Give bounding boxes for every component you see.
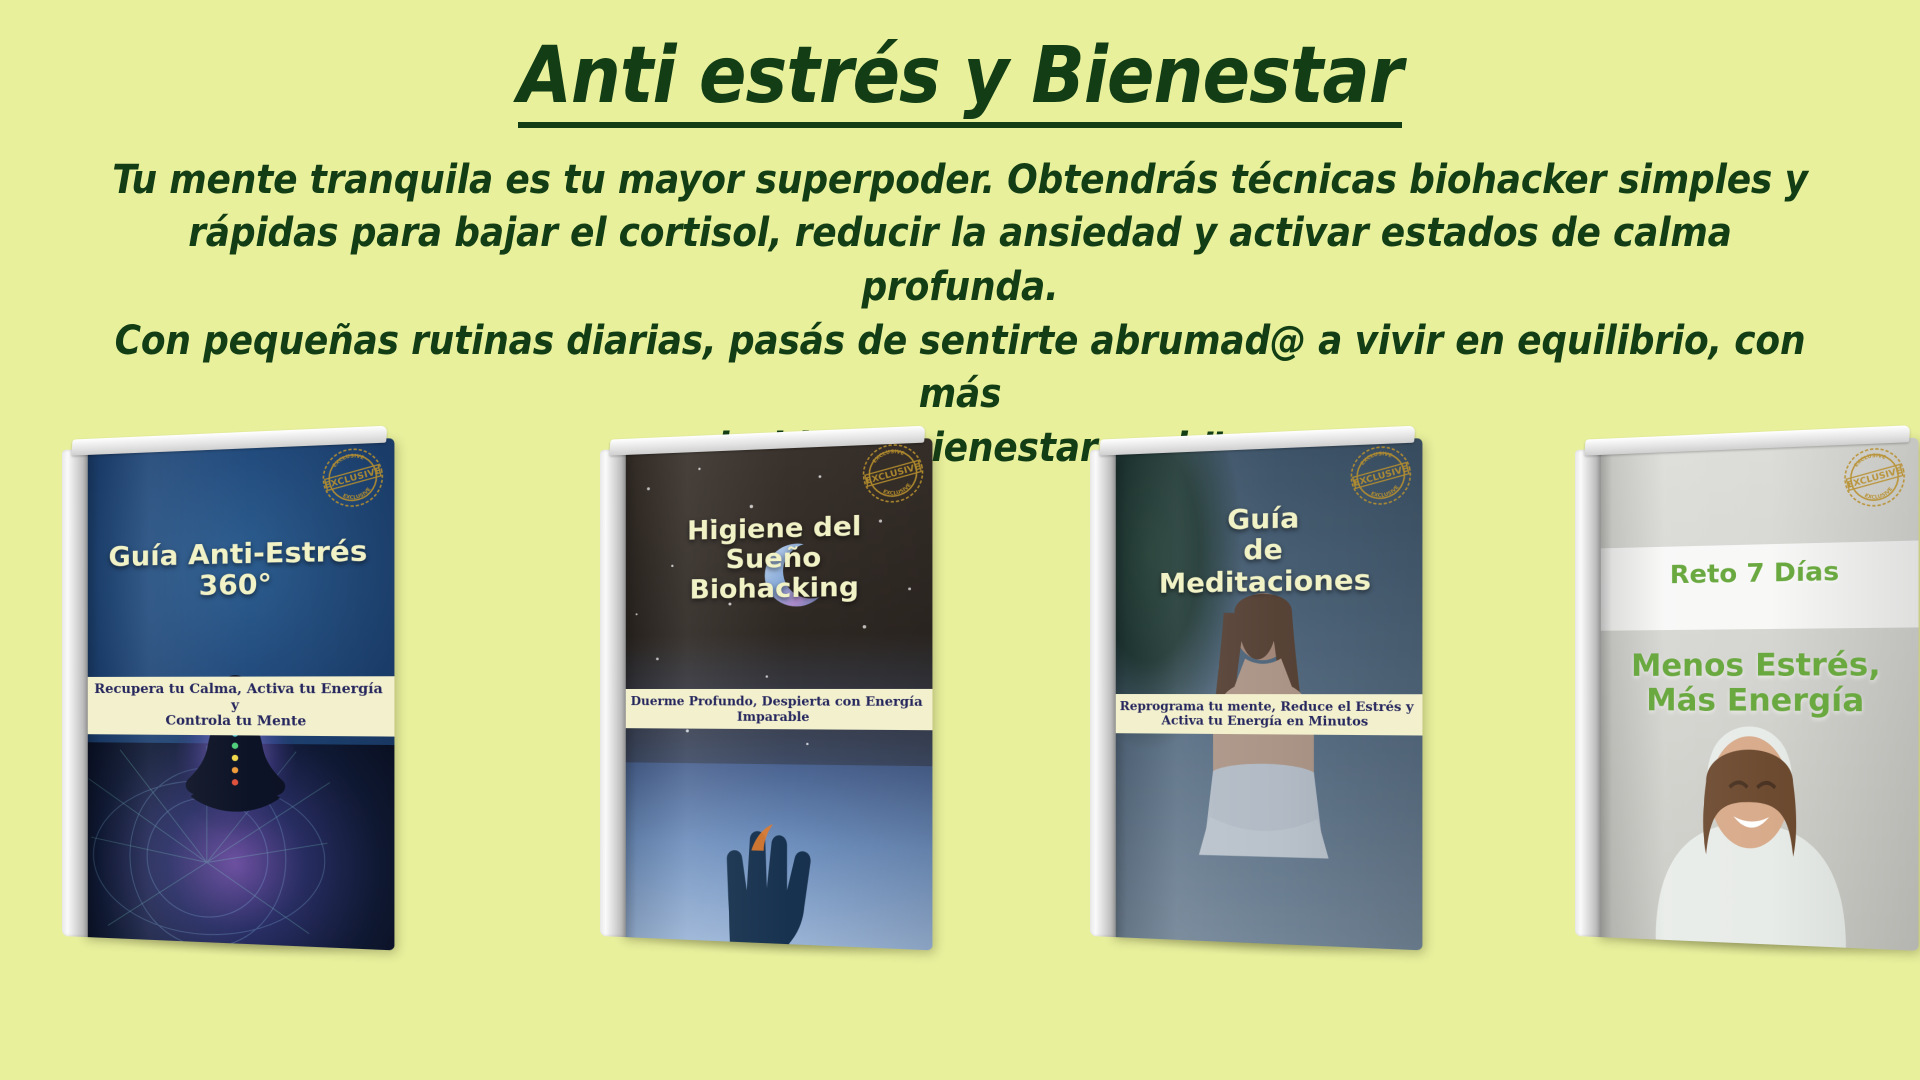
cover-subtitle-line: Reprograma tu mente, Reduce el Estrés y <box>1118 699 1416 715</box>
book-card-guia-de-meditaciones[interactable]: Guía de Meditaciones Reprograma tu mente… <box>1090 440 1410 940</box>
smiling-woman-photo <box>1637 723 1875 949</box>
badge-label: EXCLUSIVE <box>1090 440 1091 441</box>
svg-text:EXCLUSIVE: EXCLUSIVE <box>881 481 915 500</box>
book-gallery: Guía Anti-Estrés 360° Recupera tu Calma,… <box>0 440 1920 1000</box>
badge-label: EXCLUSIVE <box>1575 440 1576 441</box>
cover-title: Menos Estrés, Más Energía <box>1609 648 1905 719</box>
svg-text:EXCLUSIVE: EXCLUSIVE <box>340 486 374 505</box>
cover-subtitle-band: Duerme Profundo, Despierta con Energía I… <box>622 689 933 730</box>
book-spine <box>600 449 626 937</box>
cover-subtitle-band: Recupera tu Calma, Activa tu Energía y C… <box>84 676 395 736</box>
svg-text:EXCLUSIVE: EXCLUSIVE <box>1851 449 1888 469</box>
reaching-hand-icon <box>622 762 933 950</box>
book-spine <box>1090 449 1116 937</box>
svg-text:EXCLUSIVE: EXCLUSIVE <box>1368 483 1402 502</box>
meditation-figure-icon <box>174 603 298 926</box>
cover-title-line: Guía Anti-Estrés <box>96 536 382 574</box>
cover-subtitle-line: Recupera tu Calma, Activa tu Energía y <box>90 682 388 715</box>
cover-subtitle-line: Activa tu Energía en Minutos <box>1118 714 1416 730</box>
cover-title-line: Biohacking <box>634 572 920 607</box>
svg-text:EXCLUSIVE: EXCLUSIVE <box>1358 447 1394 467</box>
book-card-guia-anti-estres-360[interactable]: Guía Anti-Estrés 360° Recupera tu Calma,… <box>62 440 382 940</box>
cover-subtitle-line: Imparable <box>628 709 926 725</box>
cover-title-line: Meditaciones <box>1124 564 1410 600</box>
svg-text:EXCLUSIVE: EXCLUSIVE <box>1862 485 1896 504</box>
cover-title: Guía de Meditaciones <box>1124 500 1410 600</box>
landing-page: Anti estrés y Bienestar Tu mente tranqui… <box>0 0 1920 1080</box>
svg-text:EXCLUSIVE: EXCLUSIVE <box>330 449 366 469</box>
book-cover: Guía de Meditaciones Reprograma tu mente… <box>1112 438 1423 950</box>
svg-text:EXCLUSIVE: EXCLUSIVE <box>870 445 907 465</box>
cover-title: Guía Anti-Estrés 360° <box>96 536 382 604</box>
book-cover: Reto 7 Días Menos Estrés, Más Energía <box>1597 438 1919 951</box>
subtitle-line: rápidas para bajar el cortisol, reducir … <box>110 207 1810 314</box>
book-card-reto-7-dias[interactable]: Reto 7 Días Menos Estrés, Más Energía EX <box>1575 440 1905 940</box>
page-title: Anti estrés y Bienestar <box>0 0 1920 128</box>
subtitle-line: Tu mente tranquila es tu mayor superpode… <box>110 154 1810 208</box>
subtitle-line: Con pequeñas rutinas diarias, pasás de s… <box>110 315 1810 422</box>
cover-title-line: 360° <box>96 568 382 604</box>
cover-subtitle-line: Controla tu Mente <box>90 713 388 731</box>
page-title-text: Anti estrés y Bienestar <box>518 36 1403 128</box>
cover-subtitle-line: Duerme Profundo, Despierta con Energía <box>628 694 926 709</box>
book-cover: Higiene del Sueño Biohacking Duerme Prof… <box>622 438 933 950</box>
book-cover: Guía Anti-Estrés 360° Recupera tu Calma,… <box>84 438 395 950</box>
book-spine <box>62 449 88 937</box>
book-spine <box>1575 449 1601 937</box>
cover-title: Higiene del Sueño Biohacking <box>634 510 920 606</box>
cover-title-line: Menos Estrés, <box>1609 648 1905 684</box>
cover-band-title: Reto 7 Días <box>1609 556 1905 591</box>
badge-label: EXCLUSIVE <box>62 440 63 441</box>
cover-art-lower-panel <box>622 762 933 950</box>
badge-label: EXCLUSIVE <box>600 440 601 441</box>
page-header: Anti estrés y Bienestar Tu mente tranqui… <box>0 0 1920 475</box>
cover-title-line: Más Energía <box>1609 684 1905 720</box>
cover-subtitle-band: Reprograma tu mente, Reduce el Estrés y … <box>1112 694 1423 735</box>
book-card-higiene-del-sueno-biohacking[interactable]: Higiene del Sueño Biohacking Duerme Prof… <box>600 440 920 940</box>
